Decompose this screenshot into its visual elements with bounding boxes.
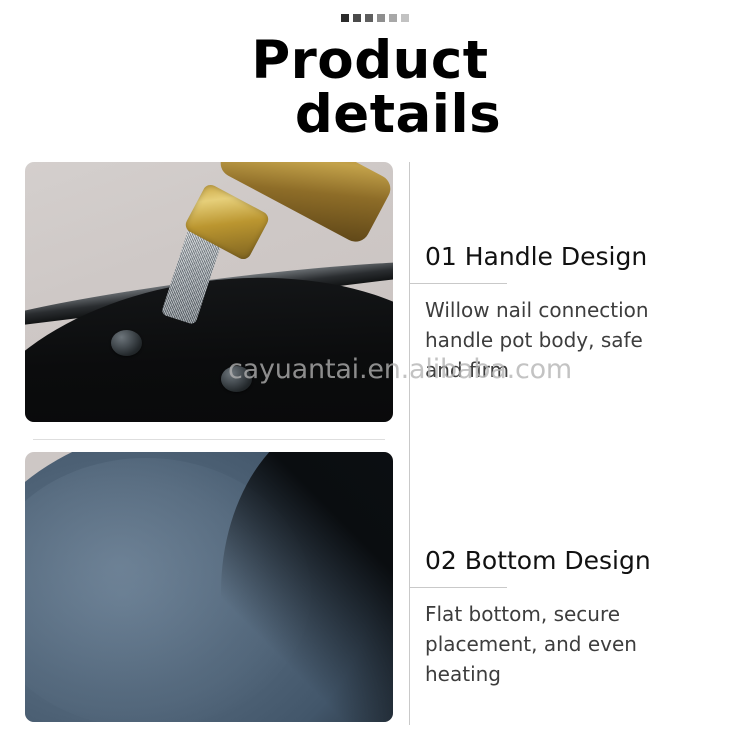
detail-body-1: Willow nail connection handle pot body, … [425, 295, 677, 385]
detail-heading-rule-2 [409, 587, 507, 588]
pan-outer-edge-shape [221, 452, 393, 722]
detail-section-handle-design: 01 Handle Design Willow nail connection … [409, 240, 750, 385]
decorative-dot-1 [341, 14, 349, 22]
detail-section-bottom-design: 02 Bottom Design Flat bottom, secure pla… [409, 544, 750, 689]
content-area: 01 Handle Design Willow nail connection … [0, 152, 750, 737]
decorative-dot-5 [389, 14, 397, 22]
page-title: Product details [0, 34, 750, 142]
decorative-dot-3 [365, 14, 373, 22]
product-details-page: { "header": { "dots": { "name": "decorat… [0, 0, 750, 737]
product-image-column [25, 152, 393, 732]
detail-heading-2: 02 Bottom Design [425, 544, 750, 578]
page-title-line-2: details [46, 88, 750, 142]
pan-rivet-1 [111, 330, 142, 356]
detail-body-2: Flat bottom, secure placement, and even … [425, 599, 677, 689]
product-photo-bottom [25, 452, 393, 722]
pan-rivet-2 [221, 366, 252, 392]
details-text-column: 01 Handle Design Willow nail connection … [409, 152, 750, 732]
photo-divider [33, 439, 385, 440]
decorative-dot-2 [353, 14, 361, 22]
product-photo-handle [25, 162, 393, 422]
decorative-dots [0, 14, 750, 22]
page-title-line-1: Product [0, 34, 750, 88]
decorative-dot-4 [377, 14, 385, 22]
detail-heading-1: 01 Handle Design [425, 240, 750, 274]
page-header: Product details [0, 0, 750, 152]
decorative-dot-6 [401, 14, 409, 22]
detail-heading-rule-1 [409, 283, 507, 284]
